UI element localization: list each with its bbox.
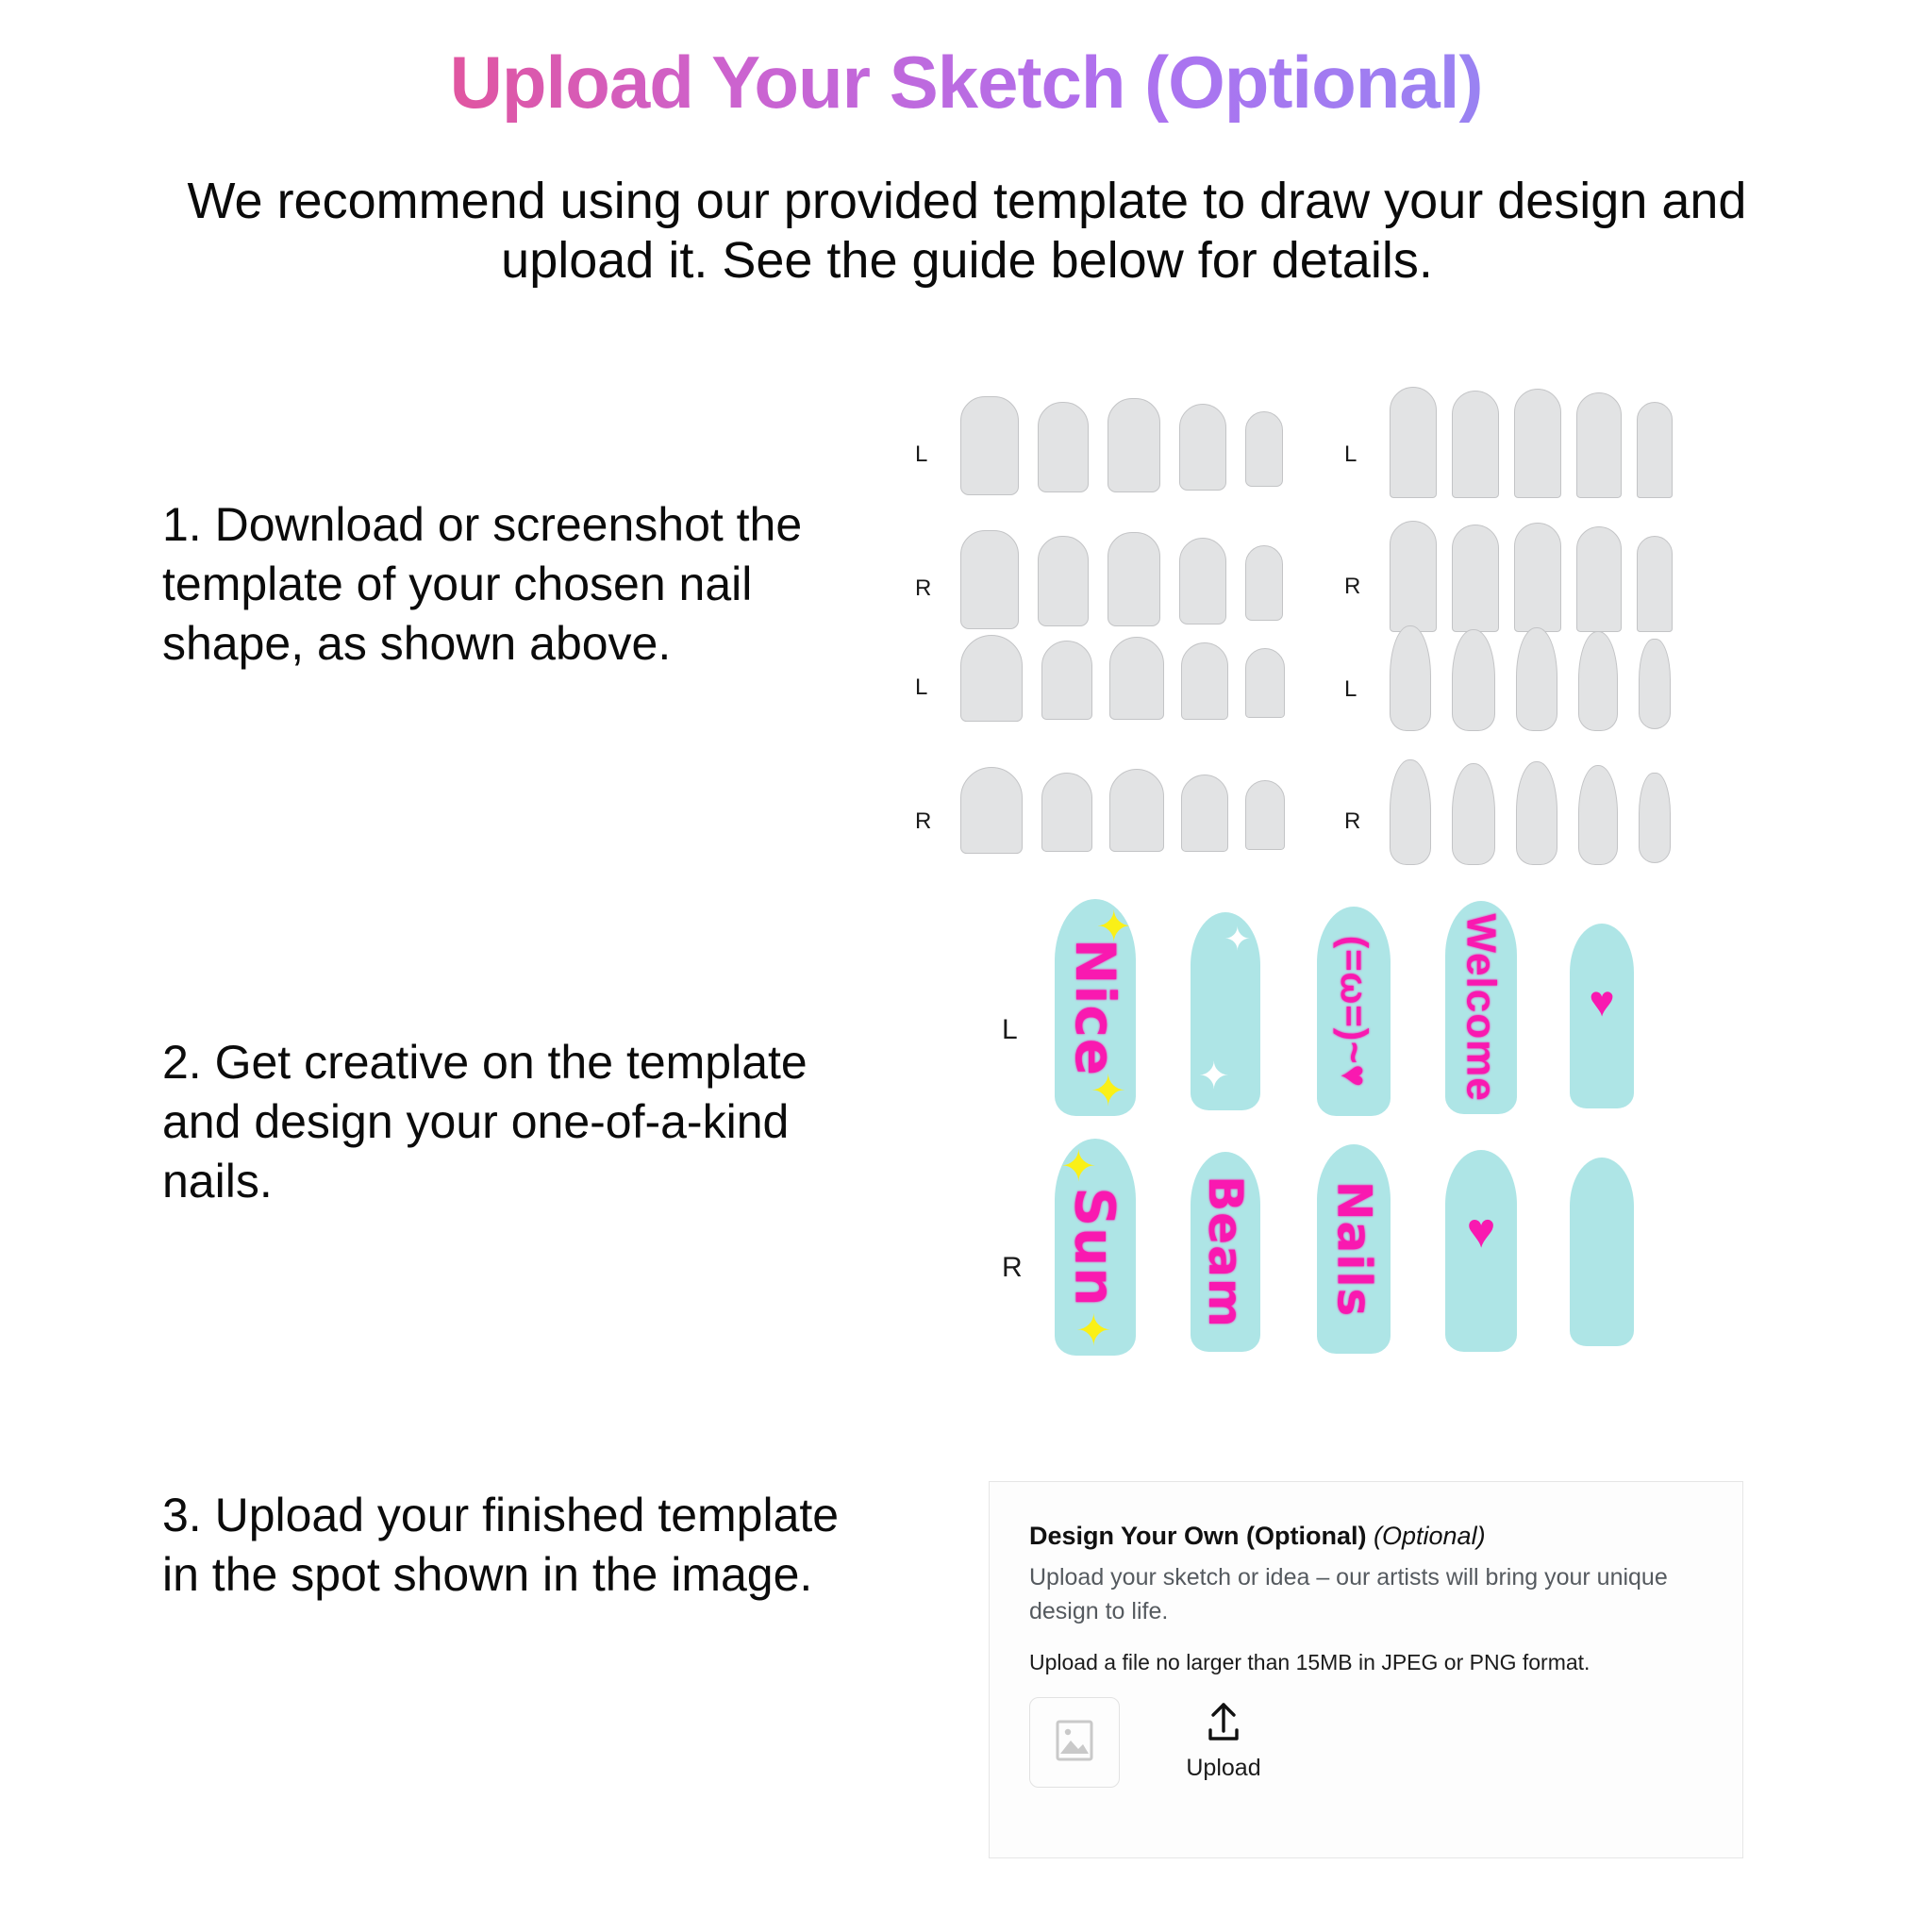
design-nail[interactable]: (=ω=)~♥	[1317, 907, 1391, 1116]
row-label-l: L	[1344, 441, 1357, 468]
card-title-optional: (Optional)	[1374, 1522, 1486, 1550]
design-nail[interactable]: Beam	[1191, 1152, 1260, 1352]
card-title: Design Your Own (Optional) (Optional)	[1029, 1522, 1486, 1551]
template-nail[interactable]	[1639, 773, 1671, 863]
card-description: Upload your sketch or idea – our artists…	[1029, 1561, 1708, 1628]
template-nail[interactable]	[1109, 637, 1164, 720]
sparkle-icon: ✦	[1198, 1058, 1230, 1095]
template-nail[interactable]	[1578, 765, 1618, 865]
design-your-own-card: Design Your Own (Optional) (Optional) Up…	[989, 1481, 1743, 1858]
design-nail[interactable]: Nice ✦ ✦	[1055, 899, 1136, 1116]
template-nail[interactable]	[1038, 536, 1089, 626]
row-label-l: L	[1344, 676, 1357, 703]
template-nail[interactable]	[1390, 625, 1431, 731]
intro-paragraph: We recommend using our provided template…	[132, 172, 1802, 291]
template-nail[interactable]	[1181, 642, 1228, 720]
template-nail[interactable]	[1452, 391, 1499, 498]
template-nail[interactable]	[1245, 545, 1283, 621]
design-row-label-l: L	[1002, 1014, 1018, 1046]
template-nail[interactable]	[1516, 627, 1557, 731]
sparkle-icon: ✦	[1095, 905, 1132, 948]
template-nail[interactable]	[1452, 629, 1495, 731]
design-row-label-r: R	[1002, 1252, 1023, 1284]
row-label-l: L	[915, 441, 927, 468]
design-nail[interactable]: Sun ✦ ✦	[1055, 1139, 1136, 1356]
template-nail[interactable]	[960, 396, 1019, 495]
template-nail[interactable]	[1637, 536, 1673, 632]
template-nail[interactable]	[1041, 641, 1092, 720]
template-nail[interactable]	[1452, 763, 1495, 865]
heart-icon: ♥	[1467, 1207, 1496, 1256]
template-nail[interactable]	[1516, 761, 1557, 865]
card-file-note: Upload a file no larger than 15MB in JPE…	[1029, 1650, 1590, 1675]
template-nail[interactable]	[1637, 402, 1673, 498]
sparkle-icon: ✦	[1075, 1308, 1112, 1352]
sparkle-icon: ✦	[1060, 1144, 1097, 1188]
upload-button-label: Upload	[1186, 1755, 1260, 1782]
design-nail[interactable]: ✦ ✦	[1191, 912, 1260, 1110]
template-nail[interactable]	[1576, 392, 1622, 498]
image-placeholder-icon	[1056, 1720, 1093, 1766]
template-nail[interactable]	[1179, 538, 1226, 625]
template-nail[interactable]	[1041, 773, 1092, 852]
design-nail[interactable]	[1570, 1158, 1634, 1346]
template-nail[interactable]	[1576, 526, 1622, 632]
design-nail-text: Nice	[1063, 939, 1127, 1076]
template-nail[interactable]	[1390, 521, 1437, 632]
template-nail[interactable]	[1108, 398, 1160, 492]
step-1-text: 1. Download or screenshot the template o…	[162, 495, 879, 674]
upload-arrow-icon	[1204, 1701, 1243, 1749]
upload-button[interactable]: Upload	[1167, 1701, 1280, 1782]
sparkle-icon: ✦	[1224, 924, 1252, 956]
template-nail[interactable]	[1514, 523, 1561, 632]
image-placeholder-thumbnail[interactable]	[1029, 1697, 1120, 1788]
heart-icon: ♥	[1589, 979, 1614, 1023]
template-nail[interactable]	[1514, 389, 1561, 498]
design-nail-text: Nails	[1326, 1181, 1381, 1318]
template-nail[interactable]	[1245, 648, 1285, 718]
template-nail[interactable]	[1390, 759, 1431, 865]
step-2-text: 2. Get creative on the template and desi…	[162, 1033, 879, 1211]
template-nail[interactable]	[1245, 780, 1285, 850]
template-nail[interactable]	[1181, 774, 1228, 852]
template-nail[interactable]	[1578, 631, 1618, 731]
template-nail[interactable]	[1452, 525, 1499, 632]
row-label-r: R	[915, 808, 931, 835]
template-nail[interactable]	[960, 635, 1023, 722]
design-nail-text: Sun	[1063, 1187, 1127, 1307]
template-nail[interactable]	[960, 767, 1023, 854]
design-nail[interactable]: Nails	[1317, 1144, 1391, 1354]
page-title: Upload Your Sketch (Optional)	[0, 40, 1932, 125]
card-title-main: Design Your Own (Optional)	[1029, 1522, 1367, 1550]
design-nail-text: Welcome	[1457, 913, 1505, 1101]
template-nail[interactable]	[1038, 402, 1089, 492]
row-label-l: L	[915, 675, 927, 701]
design-nail[interactable]: ♥	[1445, 1150, 1517, 1352]
upload-sketch-page: Upload Your Sketch (Optional) We recomme…	[0, 0, 1932, 1932]
sparkle-icon: ✦	[1090, 1069, 1126, 1112]
template-nail[interactable]	[1639, 639, 1671, 729]
template-nail[interactable]	[960, 530, 1019, 629]
step-3-text: 3. Upload your finished template in the …	[162, 1486, 879, 1605]
row-label-r: R	[1344, 808, 1360, 835]
row-label-r: R	[1344, 574, 1360, 600]
template-nail[interactable]	[1390, 387, 1437, 498]
design-nail-text: (=ω=)~♥	[1333, 935, 1375, 1087]
design-nail-text: Beam	[1198, 1175, 1253, 1328]
template-nail[interactable]	[1179, 404, 1226, 491]
template-nail[interactable]	[1109, 769, 1164, 852]
template-nail[interactable]	[1108, 532, 1160, 626]
row-label-r: R	[915, 575, 931, 602]
template-nail[interactable]	[1245, 411, 1283, 487]
design-nail[interactable]: ♥	[1570, 924, 1634, 1108]
design-nail[interactable]: Welcome	[1445, 901, 1517, 1114]
